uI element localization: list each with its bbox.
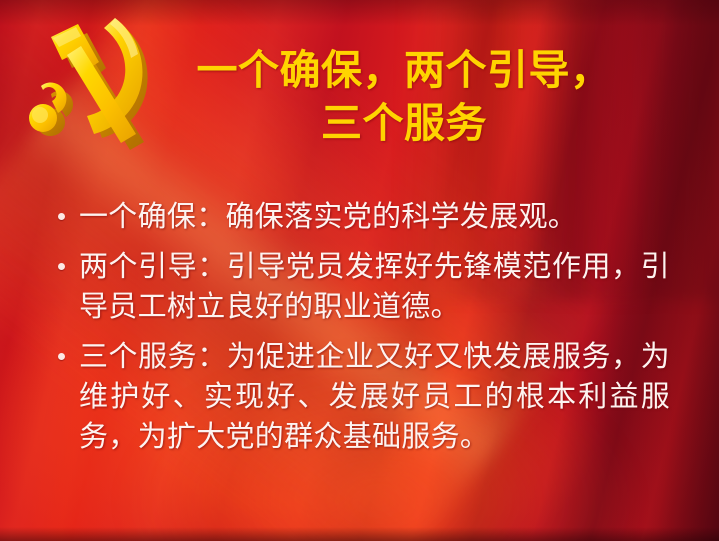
slide-title: 一个确保，两个引导， 三个服务 (170, 44, 638, 150)
bullet-dot-icon (58, 213, 65, 220)
list-item: 一个确保：确保落实党的科学发展观。 (58, 196, 670, 236)
presentation-slide: 一个确保，两个引导， 三个服务 一个确保：确保落实党的科学发展观。 两个引导：引… (0, 0, 719, 541)
slide-background-bottom-vignette (0, 527, 719, 541)
list-item: 三个服务：为促进企业又好又快发展服务，为维护好、实现好、发展好员工的根本利益服务… (58, 336, 670, 456)
list-item-label: 一个确保：确保落实党的科学发展观。 (79, 196, 670, 236)
bullet-dot-icon (58, 263, 65, 270)
slide-body-bullet-list: 一个确保：确保落实党的科学发展观。 两个引导：引导党员发挥好先锋模范作用，引导员… (58, 196, 670, 456)
list-item-label: 三个服务：为促进企业又好又快发展服务，为维护好、实现好、发展好员工的根本利益服务… (79, 336, 670, 456)
list-item-label: 两个引导：引导党员发挥好先锋模范作用，引导员工树立良好的职业道德。 (79, 246, 670, 326)
cpc-hammer-sickle-emblem-icon (12, 12, 164, 164)
bullet-dot-icon (58, 353, 65, 360)
slide-title-line-2: 三个服务 (170, 97, 638, 150)
slide-title-line-1: 一个确保，两个引导， (170, 44, 638, 97)
list-item: 两个引导：引导党员发挥好先锋模范作用，引导员工树立良好的职业道德。 (58, 246, 670, 326)
